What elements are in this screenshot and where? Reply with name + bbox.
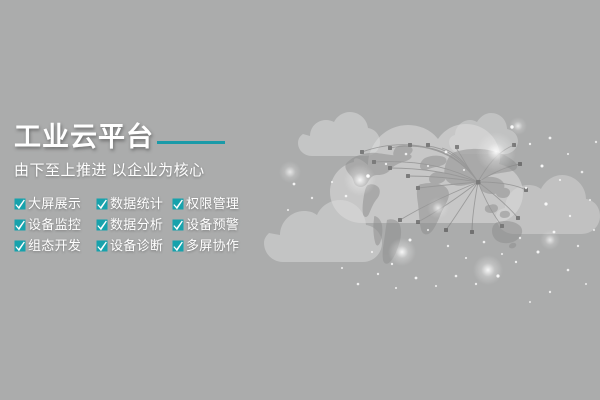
feature-row: 大屏展示 数据统计 权限管理 bbox=[14, 194, 249, 214]
feature-label: 组态开发 bbox=[28, 238, 81, 254]
feature-label: 设备监控 bbox=[28, 217, 81, 233]
feature-label: 多屏协作 bbox=[186, 238, 239, 254]
feature-item-0-2[interactable]: 权限管理 bbox=[172, 196, 239, 212]
check-icon bbox=[96, 219, 108, 231]
check-icon bbox=[96, 240, 108, 252]
feature-row: 设备监控 数据分析 设备预警 bbox=[14, 215, 249, 235]
feature-item-2-2[interactable]: 多屏协作 bbox=[172, 238, 239, 254]
feature-item-2-1[interactable]: 设备诊断 bbox=[96, 238, 172, 254]
feature-item-1-0[interactable]: 设备监控 bbox=[14, 217, 96, 233]
cloud-shape-main bbox=[330, 124, 523, 223]
title-row: 工业云平台 bbox=[14, 118, 249, 152]
cloud-shape-back-right bbox=[449, 113, 518, 154]
feature-label: 数据分析 bbox=[110, 217, 163, 233]
world-map-network bbox=[345, 143, 528, 264]
cloud-shape-right bbox=[496, 175, 600, 234]
feature-label: 设备预警 bbox=[186, 217, 239, 233]
feature-checklist: 大屏展示 数据统计 权限管理 bbox=[14, 194, 249, 256]
cloud-shape-back-left bbox=[298, 112, 380, 156]
network-connection-lines bbox=[362, 145, 526, 232]
feature-label: 数据统计 bbox=[110, 196, 163, 212]
cloud-platform-banner: 工业云平台 由下至上推进 以企业为核心 大屏展示 数据统计 bbox=[0, 0, 600, 400]
check-icon bbox=[172, 219, 184, 231]
title-underline-rule bbox=[157, 141, 225, 144]
feature-label: 权限管理 bbox=[186, 196, 239, 212]
feature-item-1-1[interactable]: 数据分析 bbox=[96, 217, 172, 233]
world-map-landmass bbox=[345, 145, 522, 264]
hero-text-block: 工业云平台 由下至上推进 以企业为核心 大屏展示 数据统计 bbox=[14, 118, 249, 257]
feature-item-1-2[interactable]: 设备预警 bbox=[172, 217, 239, 233]
page-title: 工业云平台 bbox=[14, 122, 154, 152]
feature-item-0-0[interactable]: 大屏展示 bbox=[14, 196, 96, 212]
check-icon bbox=[14, 219, 26, 231]
check-icon bbox=[14, 198, 26, 210]
cloud-shape-lower-left bbox=[264, 200, 382, 262]
check-icon bbox=[172, 240, 184, 252]
check-icon bbox=[14, 240, 26, 252]
check-icon bbox=[172, 198, 184, 210]
feature-row: 组态开发 设备诊断 多屏协作 bbox=[14, 236, 249, 256]
sparkle-glow-cluster bbox=[279, 117, 560, 285]
network-node-markers bbox=[360, 143, 528, 234]
sparkle-dots bbox=[287, 125, 597, 303]
feature-item-0-1[interactable]: 数据统计 bbox=[96, 196, 172, 212]
feature-label: 大屏展示 bbox=[28, 196, 81, 212]
feature-label: 设备诊断 bbox=[110, 238, 163, 254]
cloud-world-map-illustration bbox=[250, 80, 600, 320]
check-icon bbox=[96, 198, 108, 210]
page-subtitle: 由下至上推进 以企业为核心 bbox=[14, 161, 249, 181]
feature-item-2-0[interactable]: 组态开发 bbox=[14, 238, 96, 254]
